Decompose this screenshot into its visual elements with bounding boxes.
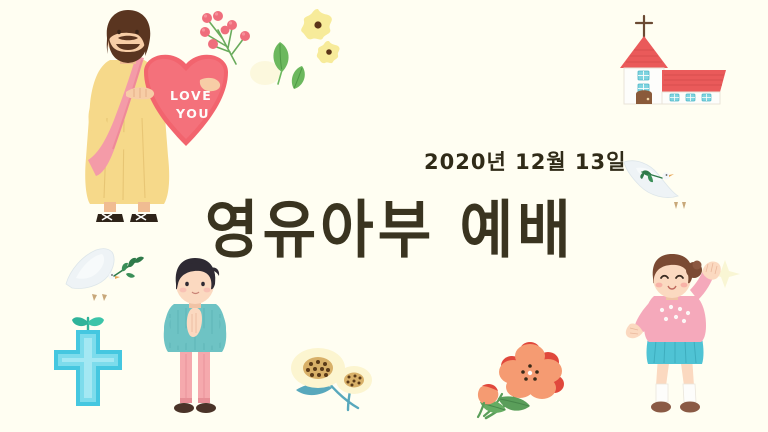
camellia-flower-illustration <box>472 336 572 428</box>
yellow-star-flower-icon <box>316 40 342 65</box>
page-title: 영유아부 예배 <box>205 180 575 270</box>
yellow-star-flower-icon <box>300 8 336 42</box>
waving-girl-illustration <box>618 252 734 424</box>
service-date-text: 2020년 12월 13일 <box>424 146 626 176</box>
dove-with-olive-branch-icon <box>62 244 154 306</box>
pale-sunflowers-illustration <box>286 344 382 422</box>
sprout-cross-illustration <box>38 306 138 408</box>
green-leaves-icon <box>258 40 310 92</box>
church-building-illustration <box>612 12 732 112</box>
praying-boy-illustration <box>152 256 238 420</box>
dove-with-olive-branch-icon <box>616 152 700 214</box>
worship-title-slide: LOVE YOU <box>0 0 768 432</box>
heart-text-you: YOU <box>175 106 210 121</box>
berry-branch-icon <box>192 8 256 66</box>
